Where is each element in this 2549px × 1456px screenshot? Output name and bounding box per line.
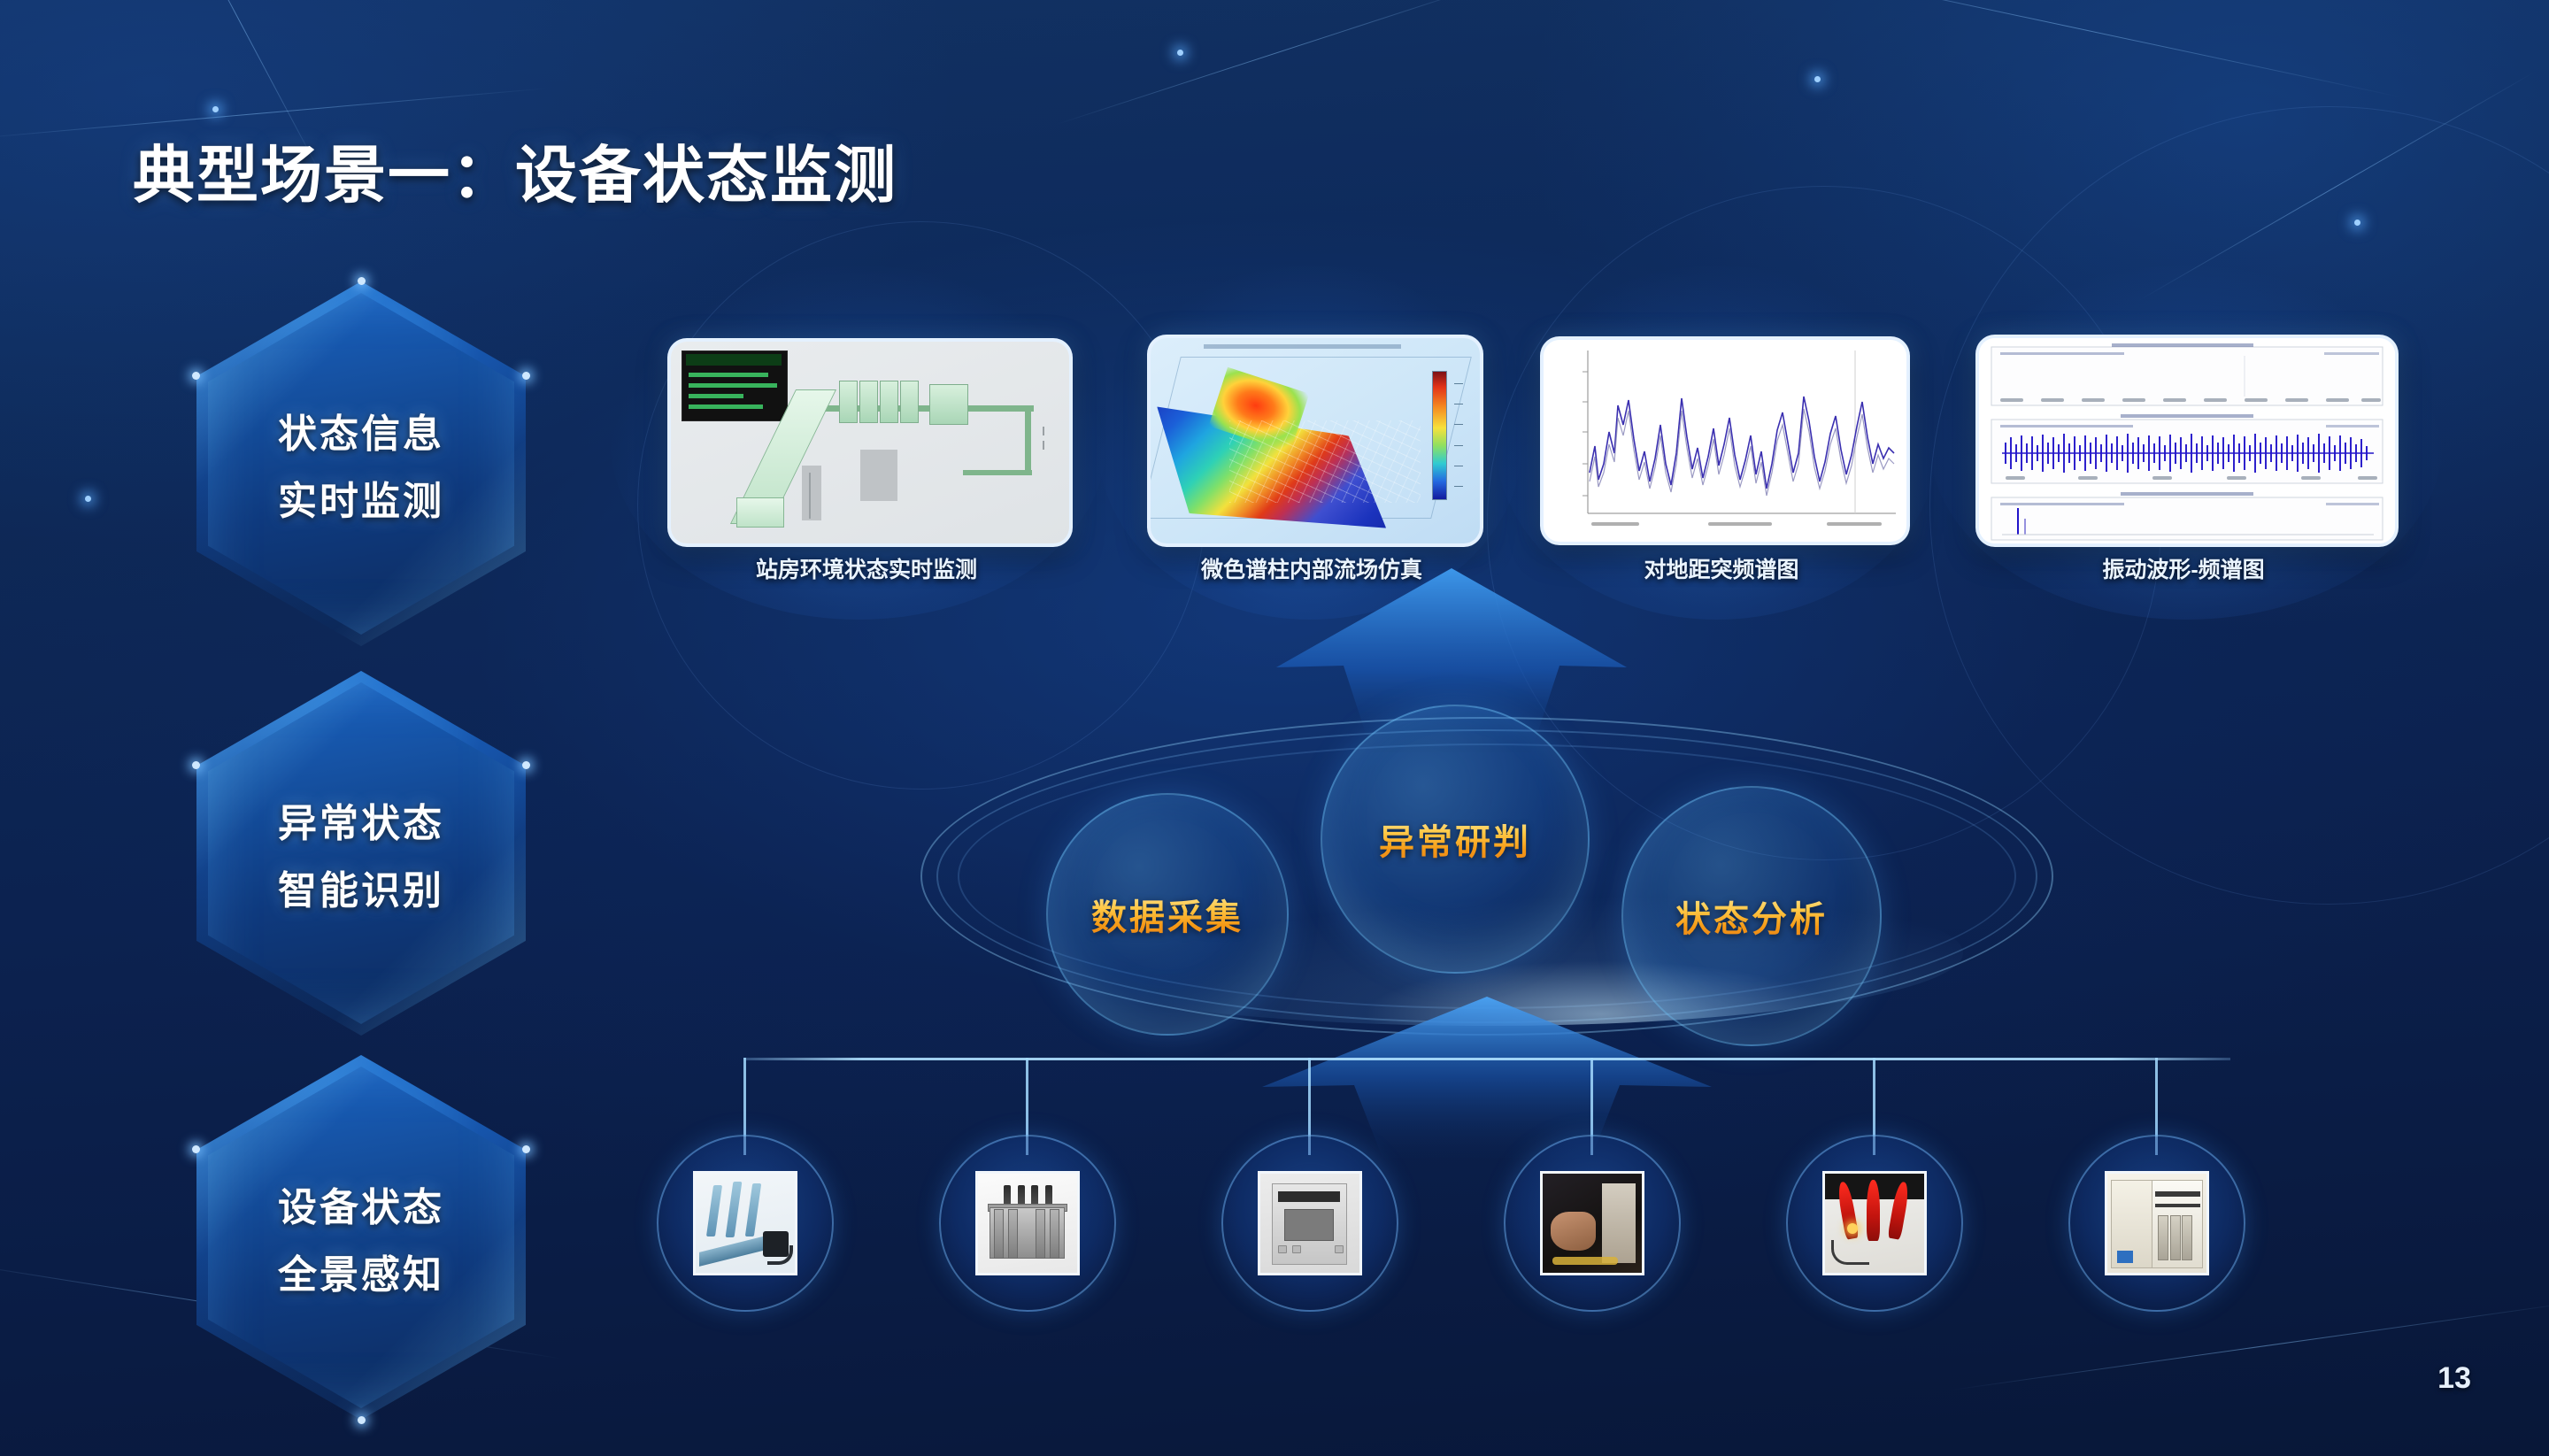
screenshot-caption-4: 振动波形-频谱图 — [1975, 552, 2391, 584]
pillar-hexagon-3[interactable]: 设备状态 全景感知 — [196, 1055, 526, 1420]
process-bubble-data-collection[interactable]: 数据采集 — [1046, 793, 1289, 1036]
scada-info-panel — [682, 351, 788, 421]
spectrum-plot — [1544, 340, 1906, 542]
vibration-canvas — [1979, 338, 2395, 543]
cfd-mesh-overlay — [1229, 420, 1421, 503]
equipment-photo-switchgear — [2105, 1171, 2209, 1275]
equipment-photo-cable-joint — [1540, 1171, 1644, 1275]
equipment-circle-switchgear[interactable] — [2068, 1135, 2245, 1312]
process-bubble-label: 数据采集 — [1091, 889, 1244, 940]
pillar-label-3: 设备状态 全景感知 — [196, 1055, 526, 1420]
screenshot-scada-layout[interactable] — [667, 338, 1073, 547]
pillar-label-2: 异常状态 智能识别 — [196, 671, 526, 1036]
pillar-label-line1: 状态信息 — [278, 402, 444, 458]
pillar-label-1: 状态信息 实时监测 — [196, 281, 526, 646]
process-bubble-label: 异常研判 — [1379, 813, 1531, 865]
equipment-circle-cabinet[interactable] — [1221, 1135, 1398, 1312]
equipment-photo-transformer — [975, 1171, 1080, 1275]
page-title: 典型场景一：设备状态监测 — [133, 126, 897, 215]
page-number: 13 — [2437, 1361, 2471, 1396]
equipment-photo-switch — [693, 1171, 797, 1275]
cfd-canvas — [1151, 338, 1480, 543]
pillar-label-line1: 设备状态 — [278, 1175, 444, 1232]
cfd-colorbar — [1432, 371, 1447, 500]
equipment-photo-red-terminal — [1822, 1171, 1927, 1275]
screenshot-caption-2: 微色谱柱内部流场仿真 — [1129, 552, 1494, 584]
equipment-connector-bracket — [743, 1058, 2230, 1164]
equipment-photo-cabinet — [1258, 1171, 1362, 1275]
pillar-label-line2: 智能识别 — [278, 859, 444, 915]
equipment-circle-cable-joint[interactable] — [1504, 1135, 1681, 1312]
process-bubble-anomaly-judgement[interactable]: 异常研判 — [1321, 705, 1590, 974]
bracket-horizontal-line — [743, 1058, 2230, 1060]
screenshot-caption-3: 对地距突频谱图 — [1540, 552, 1903, 584]
cfd-title-bar — [1204, 344, 1401, 349]
screenshot-vibration-waveform[interactable] — [1975, 335, 2399, 547]
pillar-hexagon-2[interactable]: 异常状态 智能识别 — [196, 671, 526, 1036]
pillar-label-line2: 实时监测 — [278, 469, 444, 526]
screenshot-spectrum-peaks[interactable] — [1540, 336, 1910, 545]
slide-canvas: 典型场景一：设备状态监测 状态信息 实时监测 异常状态 智能识别 设备状态 — [0, 0, 2549, 1456]
process-bubble-state-analysis[interactable]: 状态分析 — [1621, 786, 1882, 1046]
spectrum-canvas — [1544, 340, 1906, 542]
equipment-circle-red-terminal[interactable] — [1786, 1135, 1963, 1312]
scada-canvas — [671, 342, 1069, 543]
vibration-plot — [1979, 338, 2395, 543]
screenshot-cfd-simulation[interactable] — [1147, 335, 1483, 547]
equipment-circle-switch[interactable] — [657, 1135, 834, 1312]
pillar-label-line2: 全景感知 — [278, 1243, 444, 1299]
pillar-label-line1: 异常状态 — [278, 791, 444, 848]
equipment-circle-transformer[interactable] — [939, 1135, 1116, 1312]
process-stage: 数据采集 异常研判 状态分析 — [920, 717, 2053, 1036]
pillar-hexagon-1[interactable]: 状态信息 实时监测 — [196, 281, 526, 646]
screenshot-caption-1: 站房环境状态实时监测 — [667, 552, 1066, 584]
process-bubble-label: 状态分析 — [1675, 890, 1828, 942]
